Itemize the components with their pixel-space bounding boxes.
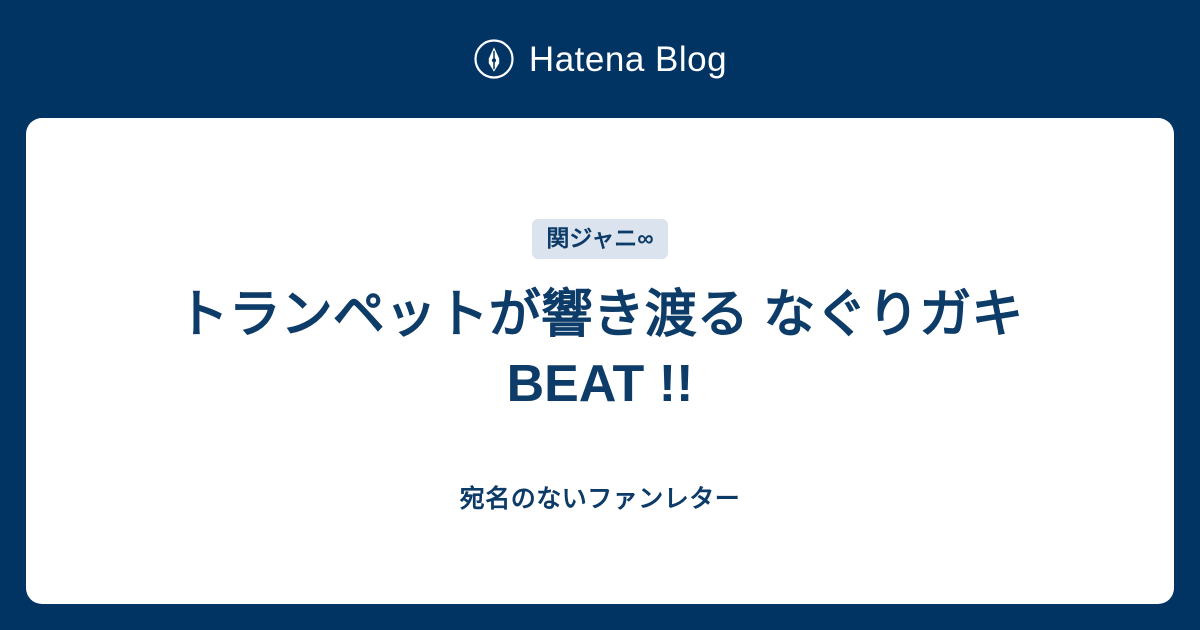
entry-card: 関ジャニ∞ トランペットが響き渡る なぐりガキBEAT !! 宛名のないファンレ… bbox=[26, 118, 1174, 604]
category-tag[interactable]: 関ジャニ∞ bbox=[532, 219, 667, 259]
entry-title: トランペットが響き渡る なぐりガキBEAT !! bbox=[26, 281, 1174, 418]
entry-card-inner: 関ジャニ∞ トランペットが響き渡る なぐりガキBEAT !! 宛名のないファンレ… bbox=[26, 118, 1174, 514]
hatena-blog-og-card: Hatena Blog 関ジャニ∞ トランペットが響き渡る なぐりガキBEAT … bbox=[0, 0, 1200, 630]
blog-name[interactable]: 宛名のないファンレター bbox=[460, 484, 741, 514]
brand-name: Hatena Blog bbox=[529, 42, 727, 77]
brand-header: Hatena Blog bbox=[0, 0, 1200, 118]
fountain-pen-nib-in-circle-icon bbox=[473, 38, 515, 80]
category-tag-row: 関ジャニ∞ bbox=[532, 219, 667, 259]
hatena-blog-logo bbox=[473, 38, 515, 80]
